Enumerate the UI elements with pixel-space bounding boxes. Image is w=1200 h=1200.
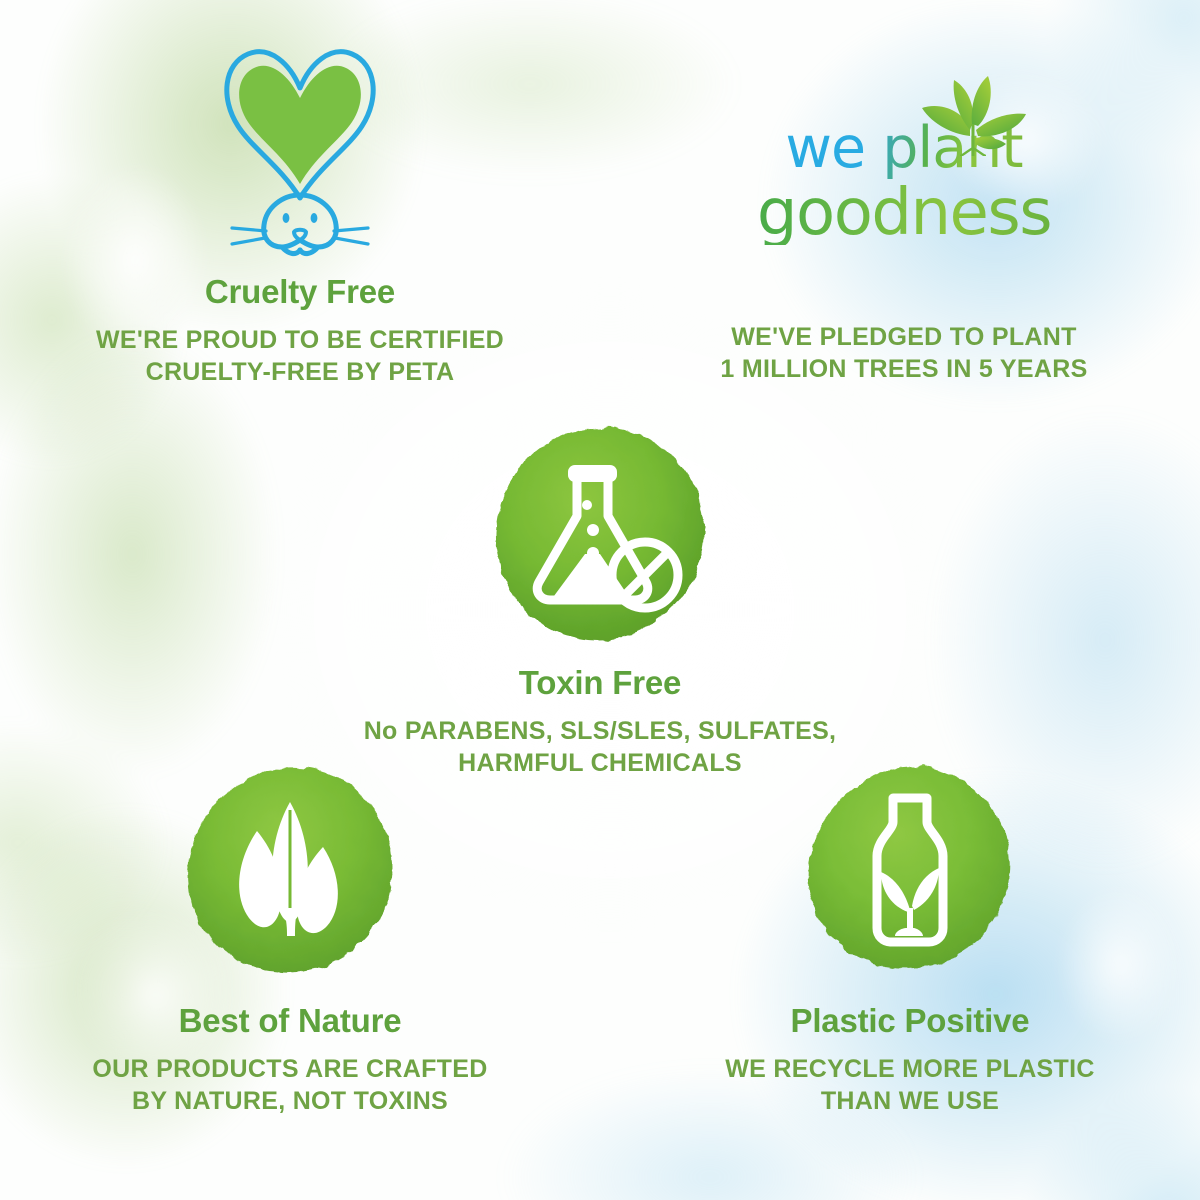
cruelty-free-icon-wrap — [20, 32, 580, 267]
cruelty-free-description-line-1: WE'RE PROUD TO BE CERTIFIED — [20, 324, 580, 356]
cruelty-free-title: Cruelty Free — [20, 275, 580, 310]
best-of-nature-description: OUR PRODUCTS ARE CRAFTED BY NATURE, NOT … — [10, 1053, 570, 1117]
best-of-nature-description-line-2: BY NATURE, NOT TOXINS — [10, 1085, 570, 1117]
plastic-positive-description-line-2: THAN WE USE — [630, 1085, 1190, 1117]
plastic-positive-title: Plastic Positive — [630, 1004, 1190, 1039]
flask-no-toxins-icon — [485, 420, 715, 650]
logo-word-we: we — [785, 115, 865, 181]
toxin-free-title: Toxin Free — [320, 666, 880, 701]
best-of-nature-icon-wrap — [10, 758, 570, 988]
plastic-positive-description: WE RECYCLE MORE PLASTIC THAN WE USE — [630, 1053, 1190, 1117]
logo-word-goodness: goodness — [624, 181, 1184, 245]
best-of-nature-disc — [175, 758, 405, 988]
we-plant-goodness-description: WE'VE PLEDGED TO PLANT 1 MILLION TREES I… — [624, 321, 1184, 385]
badge-toxin-free: Toxin Free No PARABENS, SLS/SLES, SULFAT… — [320, 420, 880, 779]
plastic-positive-disc — [795, 758, 1025, 988]
cruelty-free-description: WE'RE PROUD TO BE CERTIFIED CRUELTY-FREE… — [20, 324, 580, 388]
toxin-free-disc — [485, 420, 715, 650]
peta-bunny-heart-icon — [210, 32, 390, 267]
plastic-positive-description-line-1: WE RECYCLE MORE PLASTIC — [630, 1053, 1190, 1085]
badge-cruelty-free: Cruelty Free WE'RE PROUD TO BE CERTIFIED… — [20, 32, 580, 388]
we-plant-goodness-description-line-2: 1 MILLION TREES IN 5 YEARS — [624, 353, 1184, 385]
toxin-free-description-line-1: No PARABENS, SLS/SLES, SULFATES, — [320, 715, 880, 747]
badge-plastic-positive: Plastic Positive WE RECYCLE MORE PLASTIC… — [630, 758, 1190, 1117]
plastic-positive-icon-wrap — [630, 758, 1190, 988]
badge-best-of-nature: Best of Nature OUR PRODUCTS ARE CRAFTED … — [10, 758, 570, 1117]
infographic-canvas: Cruelty Free WE'RE PROUD TO BE CERTIFIED… — [0, 0, 1200, 1200]
three-leaves-icon — [175, 758, 405, 988]
we-plant-goodness-description-line-1: WE'VE PLEDGED TO PLANT — [624, 321, 1184, 353]
toxin-free-icon-wrap — [320, 420, 880, 650]
sprout-leaves-icon — [896, 74, 1046, 156]
cruelty-free-description-line-2: CRUELTY-FREE BY PETA — [20, 356, 580, 388]
we-plant-goodness-logo: we plant goodness — [624, 120, 1184, 275]
best-of-nature-description-line-1: OUR PRODUCTS ARE CRAFTED — [10, 1053, 570, 1085]
best-of-nature-title: Best of Nature — [10, 1004, 570, 1039]
bottle-sprout-icon — [795, 758, 1025, 988]
badge-we-plant-goodness: we plant goodness WE'VE PLEDGED TO PLANT… — [624, 120, 1184, 385]
